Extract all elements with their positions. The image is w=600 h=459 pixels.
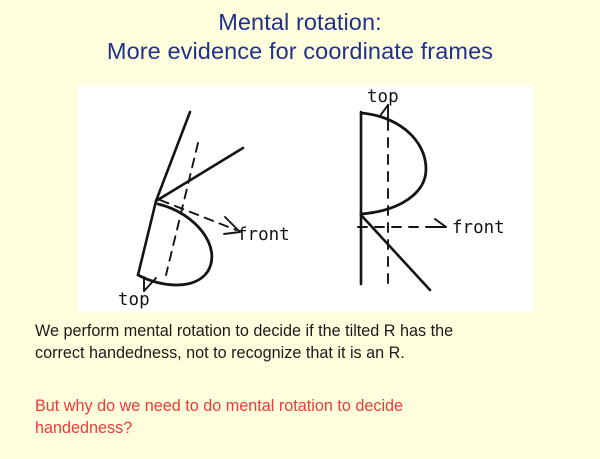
right-figure-top-label: top xyxy=(367,87,399,107)
paragraph-black-line-2: correct handedness, not to recognize tha… xyxy=(35,343,575,365)
title-line-2: More evidence for coordinate frames xyxy=(0,37,600,66)
paragraph-black-line-1: We perform mental rotation to decide if … xyxy=(35,321,575,343)
paragraph-red: But why do we need to do mental rotation… xyxy=(35,396,575,439)
left-figure-front-label: front xyxy=(237,225,290,245)
paragraph-black: We perform mental rotation to decide if … xyxy=(35,321,575,364)
slide-canvas: Mental rotation: More evidence for coord… xyxy=(0,0,600,459)
paragraph-red-line-2: handedness? xyxy=(35,418,575,440)
right-figure-front-label: front xyxy=(452,218,505,238)
page-title: Mental rotation: More evidence for coord… xyxy=(0,8,600,66)
figures-svg: front top xyxy=(78,85,534,312)
paragraph-red-line-1: But why do we need to do mental rotation… xyxy=(35,396,575,418)
left-figure-top-label: top xyxy=(118,290,150,310)
title-line-1: Mental rotation: xyxy=(0,8,600,37)
figure-panel: front top xyxy=(78,85,534,312)
